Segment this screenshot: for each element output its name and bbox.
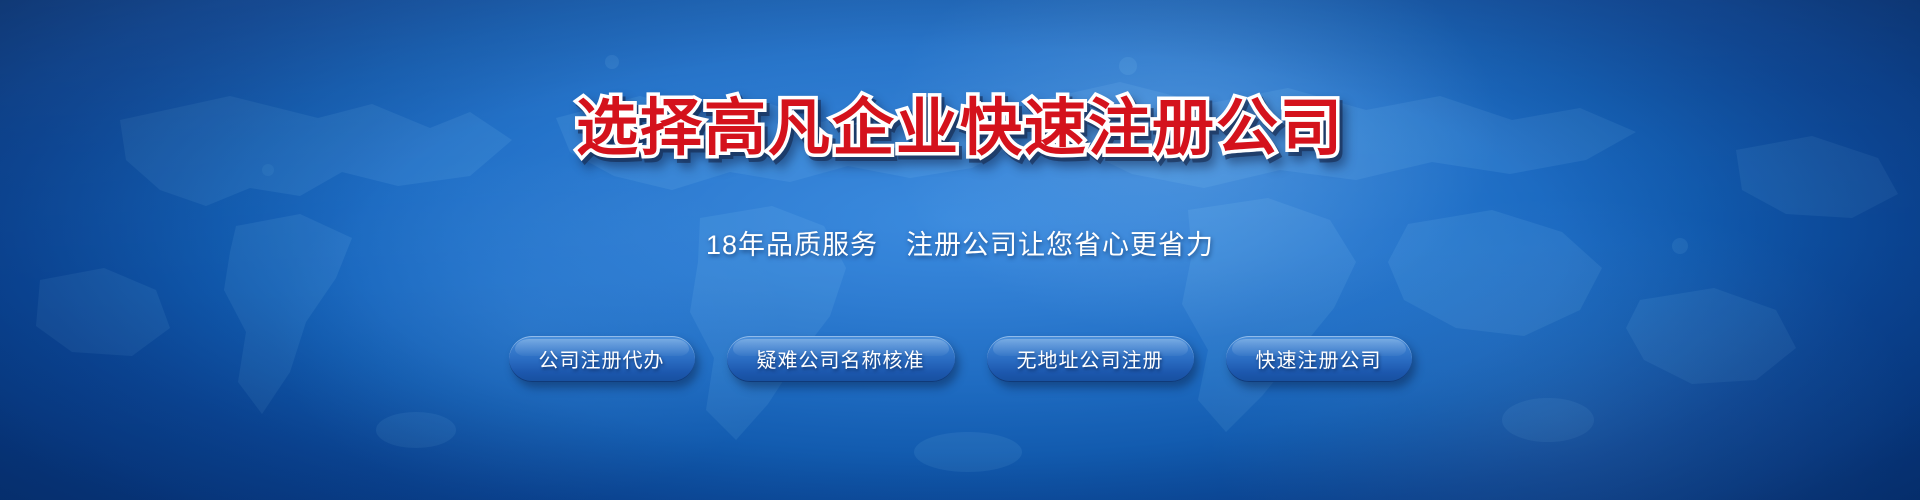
promo-banner: 选择高凡企业快速注册公司 18年品质服务 注册公司让您省心更省力 公司注册代办 … (0, 0, 1920, 500)
banner-content: 选择高凡企业快速注册公司 18年品质服务 注册公司让您省心更省力 公司注册代办 … (0, 0, 1920, 500)
banner-headline: 选择高凡企业快速注册公司 (576, 98, 1344, 160)
tag-button-no-address-registration[interactable]: 无地址公司注册 (987, 336, 1194, 382)
tag-button-row: 公司注册代办 疑难公司名称核准 无地址公司注册 快速注册公司 (509, 336, 1412, 382)
banner-subtitle: 18年品质服务 注册公司让您省心更省力 (706, 232, 1214, 259)
tag-button-fast-registration[interactable]: 快速注册公司 (1226, 336, 1412, 382)
tag-button-difficult-name-approval[interactable]: 疑难公司名称核准 (727, 336, 955, 382)
tag-button-company-registration-agency[interactable]: 公司注册代办 (509, 336, 695, 382)
